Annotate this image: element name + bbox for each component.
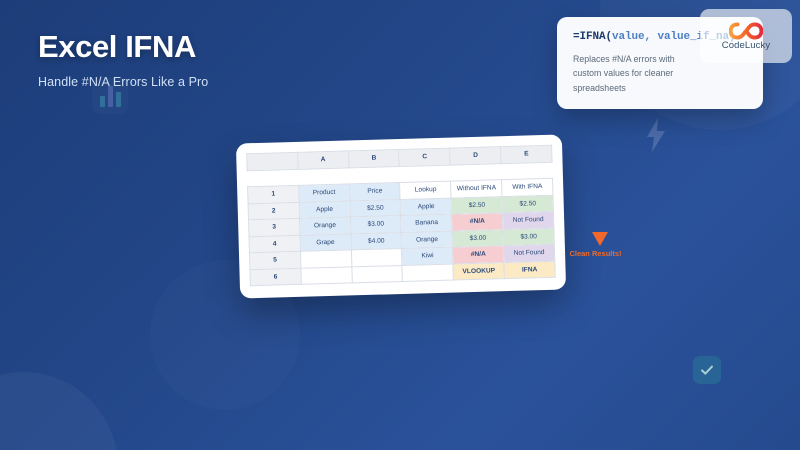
lightning-bolt-icon	[645, 118, 667, 152]
row-number[interactable]: 1	[248, 185, 299, 203]
formula-prefix: =IFNA(	[573, 31, 612, 43]
row-number[interactable]: 5	[249, 251, 300, 269]
brand-badge: CodeLucky	[700, 9, 792, 63]
cell-b4[interactable]: $4.00	[351, 232, 402, 250]
cell-a3[interactable]: Orange	[299, 217, 350, 235]
sheet-corner-cell[interactable]	[247, 152, 298, 170]
cell-e4[interactable]: $3.00	[503, 228, 554, 246]
cell-a2[interactable]: Apple	[299, 200, 350, 218]
row-number[interactable]: 2	[248, 202, 299, 220]
cell-d6-vlookup-label[interactable]: VLOOKUP	[453, 262, 504, 280]
spreadsheet-body: 1 Product Price Lookup Without IFNA With…	[248, 178, 556, 285]
cell-c2[interactable]: Apple	[400, 198, 451, 216]
page-subtitle: Handle #N/A Errors Like a Pro	[38, 75, 478, 89]
headline-block: Excel IFNA Handle #N/A Errors Like a Pro	[38, 30, 478, 89]
cell-a6[interactable]	[301, 266, 352, 284]
cell-d5-na-error[interactable]: #N/A	[453, 246, 504, 264]
spreadsheet-table: A B C D E 1 Product Price Lookup Without…	[246, 145, 556, 286]
cell-c5[interactable]: Kiwi	[402, 247, 453, 265]
row-number[interactable]: 3	[249, 218, 300, 236]
row-number[interactable]: 6	[250, 268, 301, 286]
check-square-icon	[693, 356, 721, 384]
background-circle-bottom-left	[0, 372, 118, 450]
cell-d4[interactable]: $3.00	[452, 229, 503, 247]
cell-d1[interactable]: Without IFNA	[451, 180, 502, 198]
row-number[interactable]: 4	[249, 235, 300, 253]
cell-e3-not-found[interactable]: Not Found	[503, 211, 554, 229]
brand-name: CodeLucky	[722, 40, 770, 51]
cell-c1[interactable]: Lookup	[400, 181, 451, 199]
column-header-d[interactable]: D	[450, 147, 501, 165]
cell-c4[interactable]: Orange	[401, 231, 452, 249]
cell-e6-ifna-label[interactable]: IFNA	[504, 261, 555, 279]
column-header-c[interactable]: C	[399, 148, 450, 166]
cell-b6[interactable]	[352, 265, 403, 283]
cell-b3[interactable]: $3.00	[350, 216, 401, 234]
annotation-label: Clean Results!	[549, 249, 642, 258]
cell-a4[interactable]: Grape	[300, 233, 351, 251]
page-title: Excel IFNA	[38, 30, 478, 65]
cell-b2[interactable]: $2.50	[350, 199, 401, 217]
cell-e5-not-found[interactable]: Not Found	[503, 244, 554, 262]
annotation-group: Clean Results!	[558, 231, 642, 258]
spreadsheet-card: A B C D E 1 Product Price Lookup Without…	[236, 134, 566, 298]
cell-c6[interactable]	[402, 264, 453, 282]
column-header-a[interactable]: A	[297, 151, 348, 169]
slide-canvas: Excel IFNA Handle #N/A Errors Like a Pro…	[0, 0, 800, 450]
cell-a5[interactable]	[300, 250, 351, 268]
cell-d2[interactable]: $2.50	[451, 196, 502, 214]
cell-d3-na-error[interactable]: #N/A	[452, 213, 503, 231]
cell-c3[interactable]: Banana	[401, 214, 452, 232]
cell-e2[interactable]: $2.50	[502, 195, 553, 213]
formula-description: Replaces #N/A errors with custom values …	[573, 52, 698, 95]
down-arrow-icon	[591, 231, 609, 247]
infinity-icon	[729, 21, 763, 41]
column-header-b[interactable]: B	[348, 150, 399, 168]
column-header-e[interactable]: E	[501, 145, 552, 163]
cell-a1[interactable]: Product	[298, 184, 349, 202]
cell-b5[interactable]	[351, 248, 402, 266]
cell-e1[interactable]: With IFNA	[502, 178, 553, 196]
cell-b1[interactable]: Price	[349, 183, 400, 201]
